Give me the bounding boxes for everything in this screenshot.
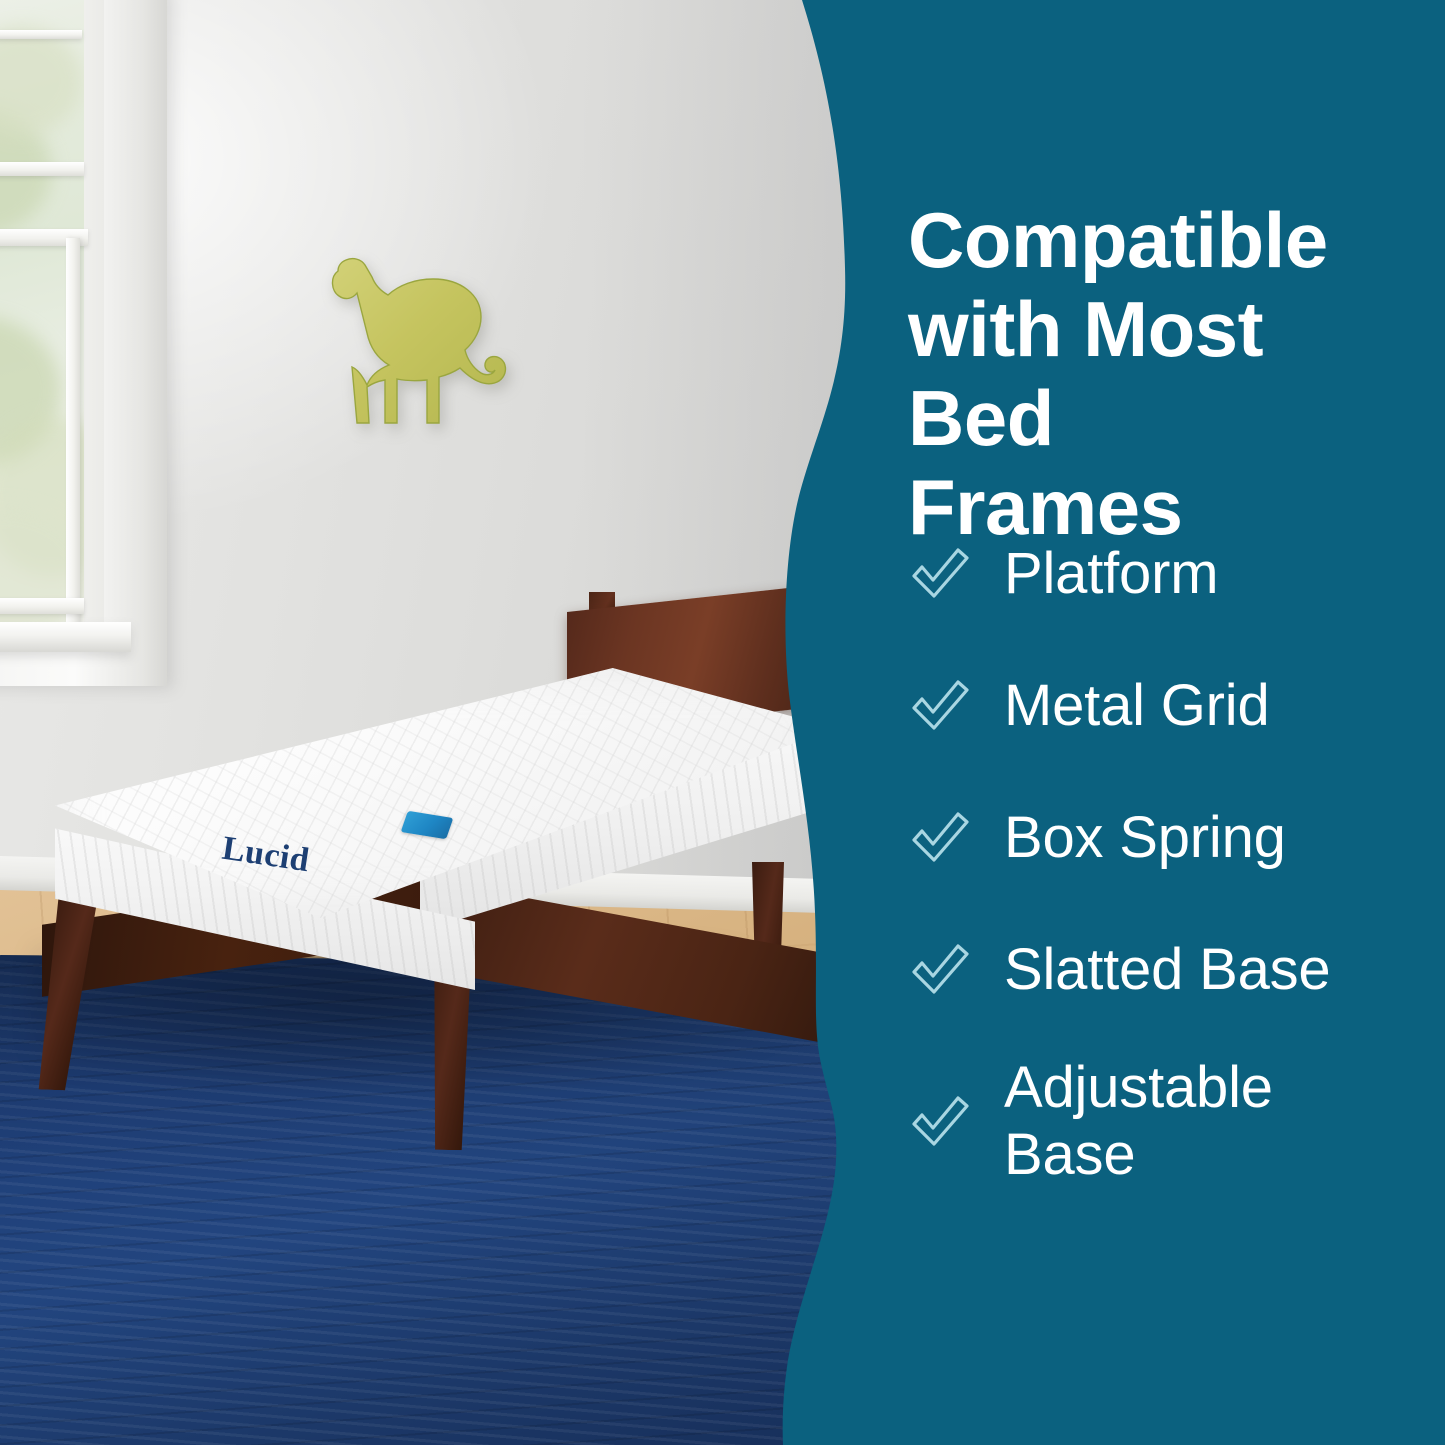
- compatibility-feature-list: Platform Metal Grid Box Spring: [908, 508, 1378, 1208]
- dinosaur-wall-decor-icon: [315, 255, 545, 445]
- window-casing: [0, 0, 167, 686]
- list-item-label: Box Spring: [1004, 805, 1286, 872]
- list-item: Adjustable Base: [908, 1036, 1378, 1208]
- feature-panel-content: Compatible with Most Bed Frames Platform…: [908, 0, 1388, 1445]
- window-sash-rail-upper: [0, 162, 84, 176]
- list-item: Box Spring: [908, 772, 1378, 904]
- window-sash-stile: [66, 238, 80, 628]
- check-icon: [908, 809, 1004, 867]
- window-sill: [0, 622, 131, 652]
- check-icon: [908, 545, 1004, 603]
- window-mullion-horizontal: [0, 30, 82, 39]
- check-icon: [908, 941, 1004, 999]
- list-item: Metal Grid: [908, 640, 1378, 772]
- check-icon: [908, 677, 1004, 735]
- window-sash-rail-lower: [0, 598, 84, 614]
- list-item-label: Platform: [1004, 541, 1218, 608]
- list-item: Slatted Base: [908, 904, 1378, 1036]
- list-item-label: Slatted Base: [1004, 937, 1330, 1004]
- check-icon: [908, 1093, 1004, 1151]
- list-item-label: Adjustable Base: [1004, 1055, 1273, 1188]
- list-item-label: Metal Grid: [1004, 673, 1270, 740]
- bedroom-photo: Lucid: [0, 0, 880, 1445]
- product-feature-graphic: Lucid Compatible with Most Bed Frames Pl…: [0, 0, 1445, 1445]
- page-title: Compatible with Most Bed Frames: [908, 196, 1348, 552]
- list-item: Platform: [908, 508, 1378, 640]
